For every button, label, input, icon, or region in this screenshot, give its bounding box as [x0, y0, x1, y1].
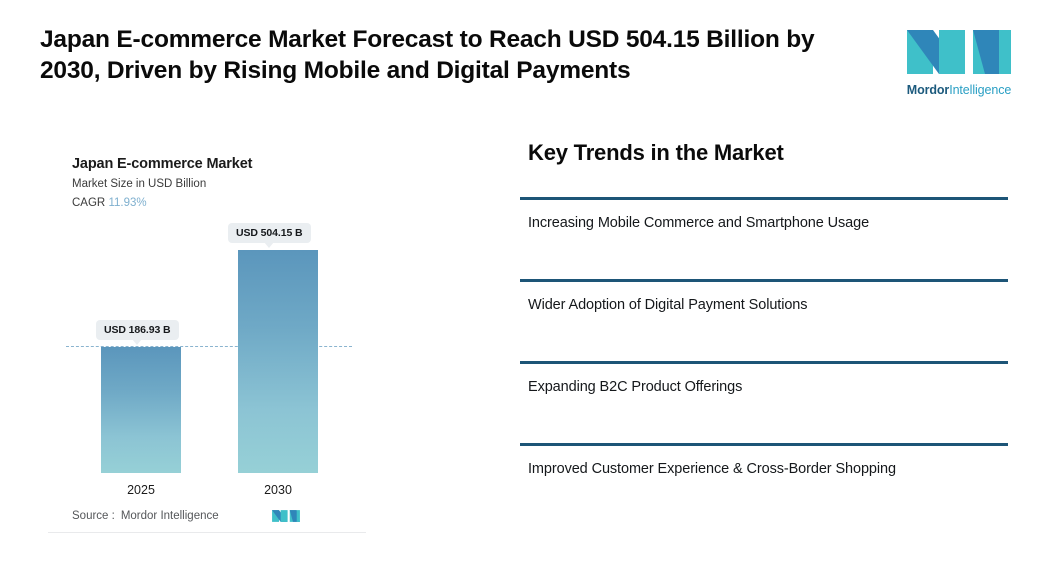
x-axis-label-2025: 2025 [101, 483, 181, 497]
x-axis-label-2030: 2030 [238, 483, 318, 497]
bar-value-badge-2025: USD 186.93 B [96, 320, 179, 340]
bar-value-badge-2030: USD 504.15 B [228, 223, 311, 243]
source-mordor-mark-icon [271, 508, 301, 524]
market-size-chart-card: Japan E-commerce Market Market Size in U… [48, 130, 366, 533]
mordor-intelligence-mark-icon [903, 26, 1015, 78]
source-name: Mordor Intelligence [121, 510, 219, 522]
brand-word-intelligence: Intelligence [949, 83, 1011, 97]
trend-label-4: Improved Customer Experience & Cross-Bor… [528, 460, 1008, 479]
brand-logo: MordorIntelligence [903, 24, 1015, 97]
trend-item-1[interactable]: Increasing Mobile Commerce and Smartphon… [520, 197, 1008, 279]
brand-word-mordor: Mordor [907, 83, 949, 97]
source-label: Source : [72, 510, 115, 522]
trend-label-2: Wider Adoption of Digital Payment Soluti… [528, 296, 1008, 315]
key-trends-heading: Key Trends in the Market [528, 140, 1008, 166]
trend-label-1: Increasing Mobile Commerce and Smartphon… [528, 214, 1008, 233]
bar-2030[interactable] [238, 250, 318, 473]
bar-2025[interactable] [101, 347, 181, 473]
trend-label-3: Expanding B2C Product Offerings [528, 378, 1008, 397]
brand-wordmark: MordorIntelligence [903, 83, 1015, 97]
bar-chart-plot-area: USD 186.93 B USD 504.15 B 2025 2030 [48, 130, 366, 533]
report-infographic-page: Japan E-commerce Market Forecast to Reac… [0, 0, 1055, 581]
page-title: Japan E-commerce Market Forecast to Reac… [40, 24, 850, 87]
trend-item-4[interactable]: Improved Customer Experience & Cross-Bor… [520, 443, 1008, 479]
trend-item-2[interactable]: Wider Adoption of Digital Payment Soluti… [520, 279, 1008, 361]
chart-source-row: Source : Mordor Intelligence [72, 508, 344, 524]
key-trends-panel: Key Trends in the Market Increasing Mobi… [520, 140, 1008, 479]
page-header: Japan E-commerce Market Forecast to Reac… [40, 24, 1015, 97]
trend-item-3[interactable]: Expanding B2C Product Offerings [520, 361, 1008, 443]
